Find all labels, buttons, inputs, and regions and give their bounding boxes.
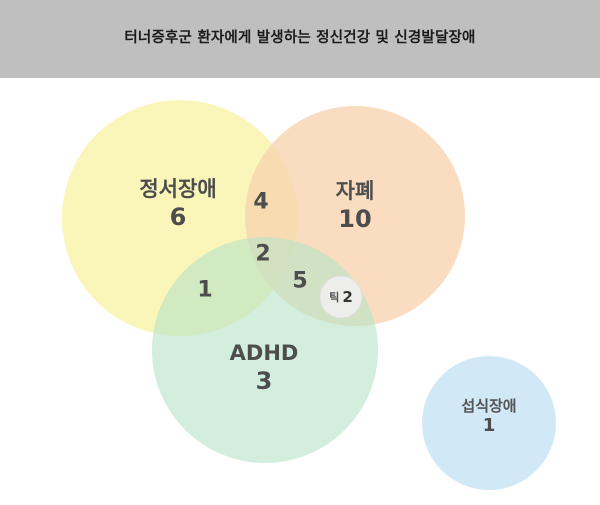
page-title: 터너증후군 환자에게 발생하는 정신건강 및 신경발달장애 (124, 30, 475, 47)
venn-circle-tic (320, 276, 362, 318)
venn-circle-eating (422, 356, 556, 490)
venn-chart-area: 정서장애 6 자폐 10 ADHD 3 섭식장애 1 틱2 4 1 2 5 (0, 78, 600, 505)
venn-circle-adhd (152, 237, 378, 463)
venn-circles-svg (0, 78, 600, 505)
venn-diagram-page: 터너증후군 환자에게 발생하는 정신건강 및 신경발달장애 정서장애 6 자폐 … (0, 0, 600, 505)
header-bar: 터너증후군 환자에게 발생하는 정신건강 및 신경발달장애 (0, 0, 600, 78)
venn-circle-group (62, 100, 556, 490)
